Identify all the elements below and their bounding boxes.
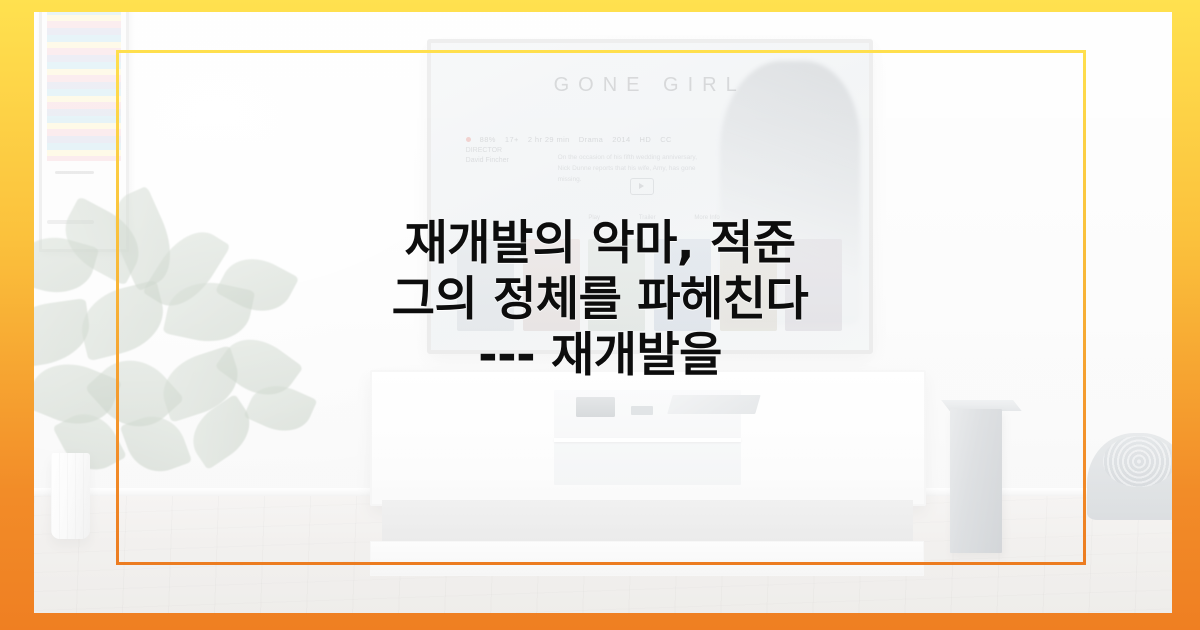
poster-stripes xyxy=(47,12,121,161)
tv-poster-thumb xyxy=(588,239,645,331)
tv-screen: GONE GIRL 88% 17+ 2 hr 29 min Drama 2014… xyxy=(431,43,869,350)
tv-action-more: More Info xyxy=(694,215,719,221)
console-base xyxy=(370,541,924,576)
tv-poster-strip xyxy=(457,239,843,331)
tv-meta-genre: Drama xyxy=(579,135,604,144)
av-receiver xyxy=(576,397,615,417)
plant-leaf xyxy=(73,280,171,362)
television: GONE GIRL 88% 17+ 2 hr 29 min Drama 2014… xyxy=(427,39,873,354)
tv-poster-thumb xyxy=(654,239,711,331)
tv-poster-thumb xyxy=(720,239,777,331)
tv-meta-year: 2014 xyxy=(612,135,630,144)
background-photo: GONE GIRL 88% 17+ 2 hr 29 min Drama 2014… xyxy=(34,12,1172,613)
speaker-tower xyxy=(950,409,1002,553)
tv-meta-runtime: 2 hr 29 min xyxy=(528,135,570,144)
tv-director-label: DIRECTOR xyxy=(466,146,509,157)
tv-action-row: Play Trailer More Info xyxy=(588,215,719,221)
small-device xyxy=(631,406,653,415)
knit-pouf-texture xyxy=(1103,436,1172,487)
tv-action-trailer: Trailer xyxy=(639,215,656,221)
rating-dot-icon xyxy=(466,137,471,142)
plant-pot xyxy=(51,453,90,539)
play-button-icon xyxy=(630,178,654,195)
potted-plant xyxy=(34,192,353,565)
console-shelf xyxy=(554,438,742,442)
tv-poster-thumb xyxy=(457,239,514,331)
tv-poster-thumb xyxy=(785,239,842,331)
media-console xyxy=(370,370,926,506)
og-share-card: GONE GIRL 88% 17+ 2 hr 29 min Drama 2014… xyxy=(0,0,1200,630)
tv-director-block: DIRECTOR David Fincher xyxy=(466,146,509,167)
living-room-scene: GONE GIRL 88% 17+ 2 hr 29 min Drama 2014… xyxy=(34,12,1172,613)
tv-meta-cc: CC xyxy=(660,135,672,144)
tv-poster-thumb xyxy=(523,239,580,331)
tv-meta-hd: HD xyxy=(640,135,652,144)
tv-meta-age: 17+ xyxy=(505,135,519,144)
console-plinth xyxy=(382,500,912,545)
tv-meta-score: 88% xyxy=(480,135,496,144)
tv-metadata-row: 88% 17+ 2 hr 29 min Drama 2014 HD CC xyxy=(466,135,808,144)
poster-signature xyxy=(55,171,94,174)
tv-movie-title: GONE GIRL xyxy=(431,74,869,97)
laptop xyxy=(667,395,761,414)
tv-action-play: Play xyxy=(588,215,600,221)
tv-director-name: David Fincher xyxy=(466,156,509,167)
